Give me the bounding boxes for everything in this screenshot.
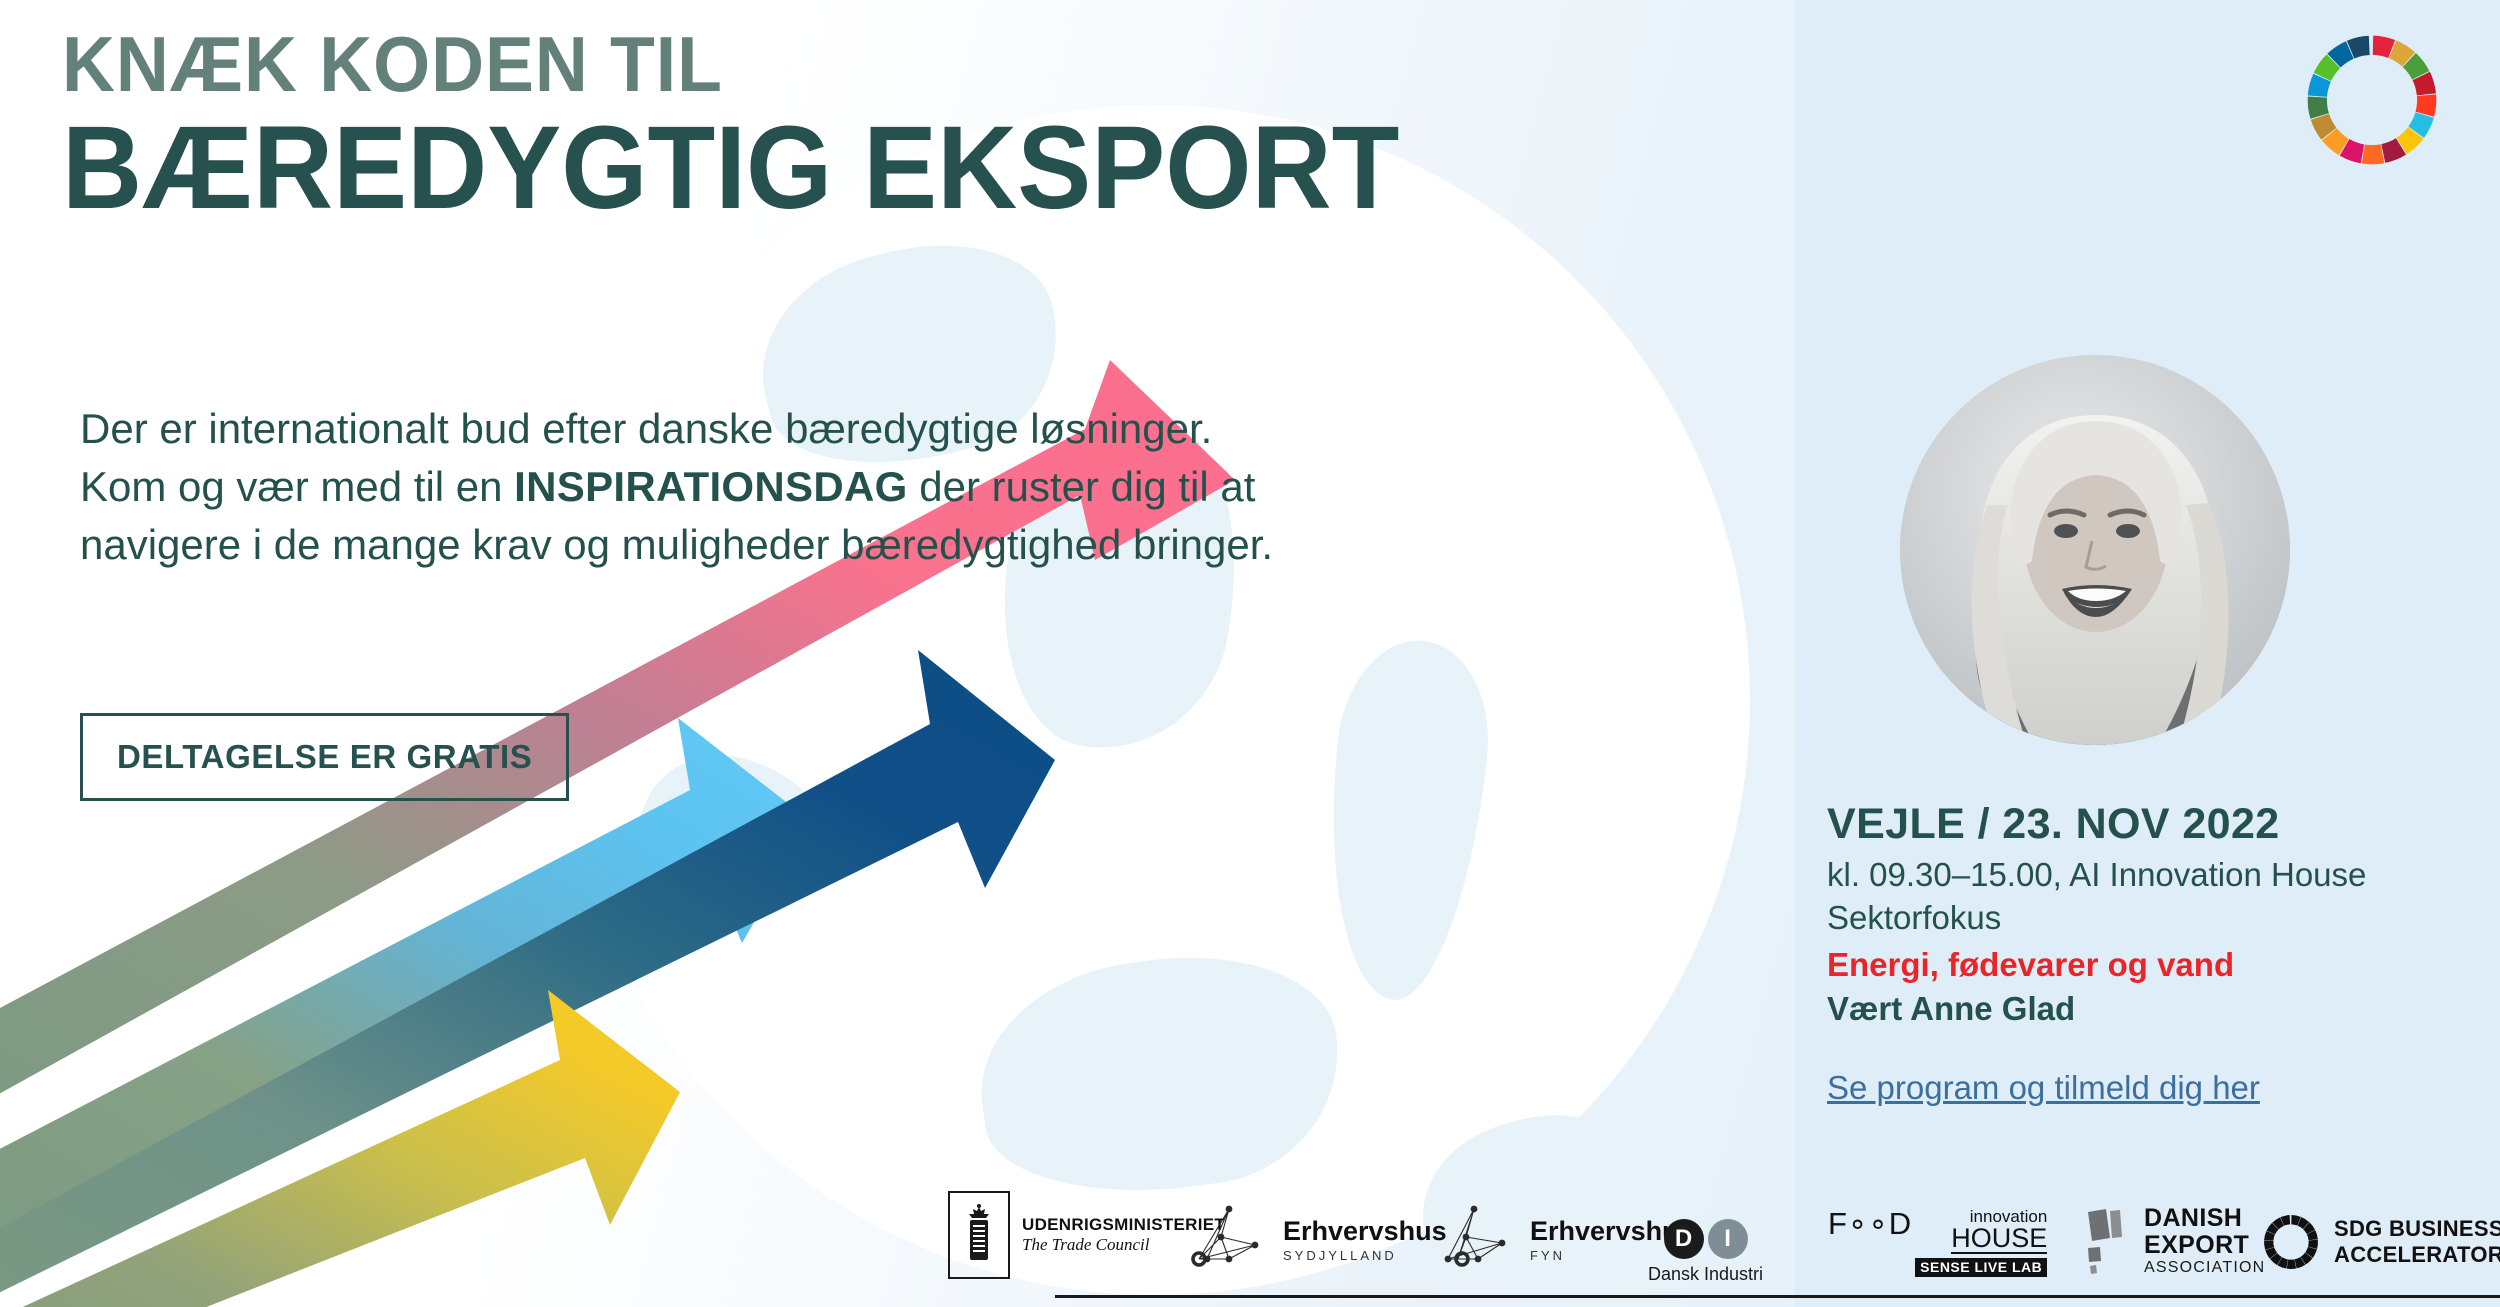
sdg-wheel-mono-icon [2260, 1211, 2322, 1273]
sdg-wheel-icon [2298, 26, 2446, 174]
page-title: KNÆK KODEN TIL BÆREDYGTIG EKSPORT [62, 26, 1485, 229]
promo-banner: KNÆK KODEN TIL BÆREDYGTIG EKSPORT Der er… [0, 0, 2500, 1307]
event-sector: Energi, fødevarer og vand [1827, 943, 2467, 987]
logo-food-word: F∘∘D [1828, 1208, 1912, 1239]
network-node-icon [1185, 1201, 1271, 1279]
partner-logo-strip: UDENRIGSMINISTERIET The Trade Council Er… [0, 1172, 2500, 1307]
host-portrait-avatar [1900, 355, 2290, 745]
free-participation-badge[interactable]: DELTAGELSE ER GRATIS [80, 713, 569, 801]
logo-danish-export-line-3: ASSOCIATION [2144, 1258, 2265, 1277]
logo-di-caption: Dansk Industri [1648, 1264, 1763, 1285]
logo-erhvervshus-sydjylland-name: Erhvervshus [1283, 1218, 1447, 1245]
logo-sdg-line-2: ACCELERATOR [2334, 1242, 2500, 1268]
event-place-date: VEJLE / 23. NOV 2022 [1827, 800, 2467, 848]
logo-di-letter-i: I [1708, 1219, 1748, 1259]
logo-sdg-line-1: SDG BUSINESS [2334, 1216, 2500, 1242]
body-copy-emphasis: INSPIRATIONSDAG [514, 463, 907, 510]
headline-line-1: KNÆK KODEN TIL [62, 26, 1399, 102]
logo-sdg-business-accelerator: SDG BUSINESS ACCELERATOR [2260, 1211, 2500, 1273]
logo-di-letter-d: D [1664, 1219, 1704, 1259]
danish-crest-icon [948, 1191, 1010, 1279]
logo-danish-export-line-1: DANISH [2144, 1205, 2265, 1231]
body-copy: Der er internationalt bud efter danske b… [80, 400, 1300, 574]
logo-danish-export-association: DANISH EXPORT ASSOCIATION [2080, 1205, 2265, 1277]
event-details: VEJLE / 23. NOV 2022 kl. 09.30–15.00, AI… [1827, 800, 2467, 1107]
headline-line-2: BÆREDYGTIG EKSPORT [62, 108, 1399, 228]
logo-erhvervshus-sydjylland: Erhvervshus SYDJYLLAND [1185, 1201, 1447, 1279]
logo-food-house: HOUSE [1951, 1225, 2047, 1254]
network-node-icon [1432, 1201, 1518, 1279]
event-time-venue: kl. 09.30–15.00, AI Innovation House [1827, 854, 2467, 897]
footer-divider [1055, 1295, 2500, 1298]
logo-danish-export-line-2: EXPORT [2144, 1232, 2265, 1258]
logo-udenrigsministeriet: UDENRIGSMINISTERIET The Trade Council [948, 1191, 1225, 1279]
event-focus-label: Sektorfokus [1827, 897, 2467, 940]
danish-export-mark-icon [2080, 1206, 2132, 1276]
program-signup-link[interactable]: Se program og tilmeld dig her [1827, 1069, 2260, 1107]
logo-food-tagline: SENSE LIVE LAB [1915, 1258, 2047, 1277]
logo-erhvervshus-sydjylland-sub: SYDJYLLAND [1283, 1249, 1447, 1262]
logo-food-innovation-house: F∘∘D innovation HOUSE SENSE LIVE LAB [1828, 1208, 2047, 1277]
logo-dansk-industri: D I Dansk Industri [1648, 1219, 1763, 1285]
event-host: Vært Anne Glad [1827, 987, 2467, 1031]
